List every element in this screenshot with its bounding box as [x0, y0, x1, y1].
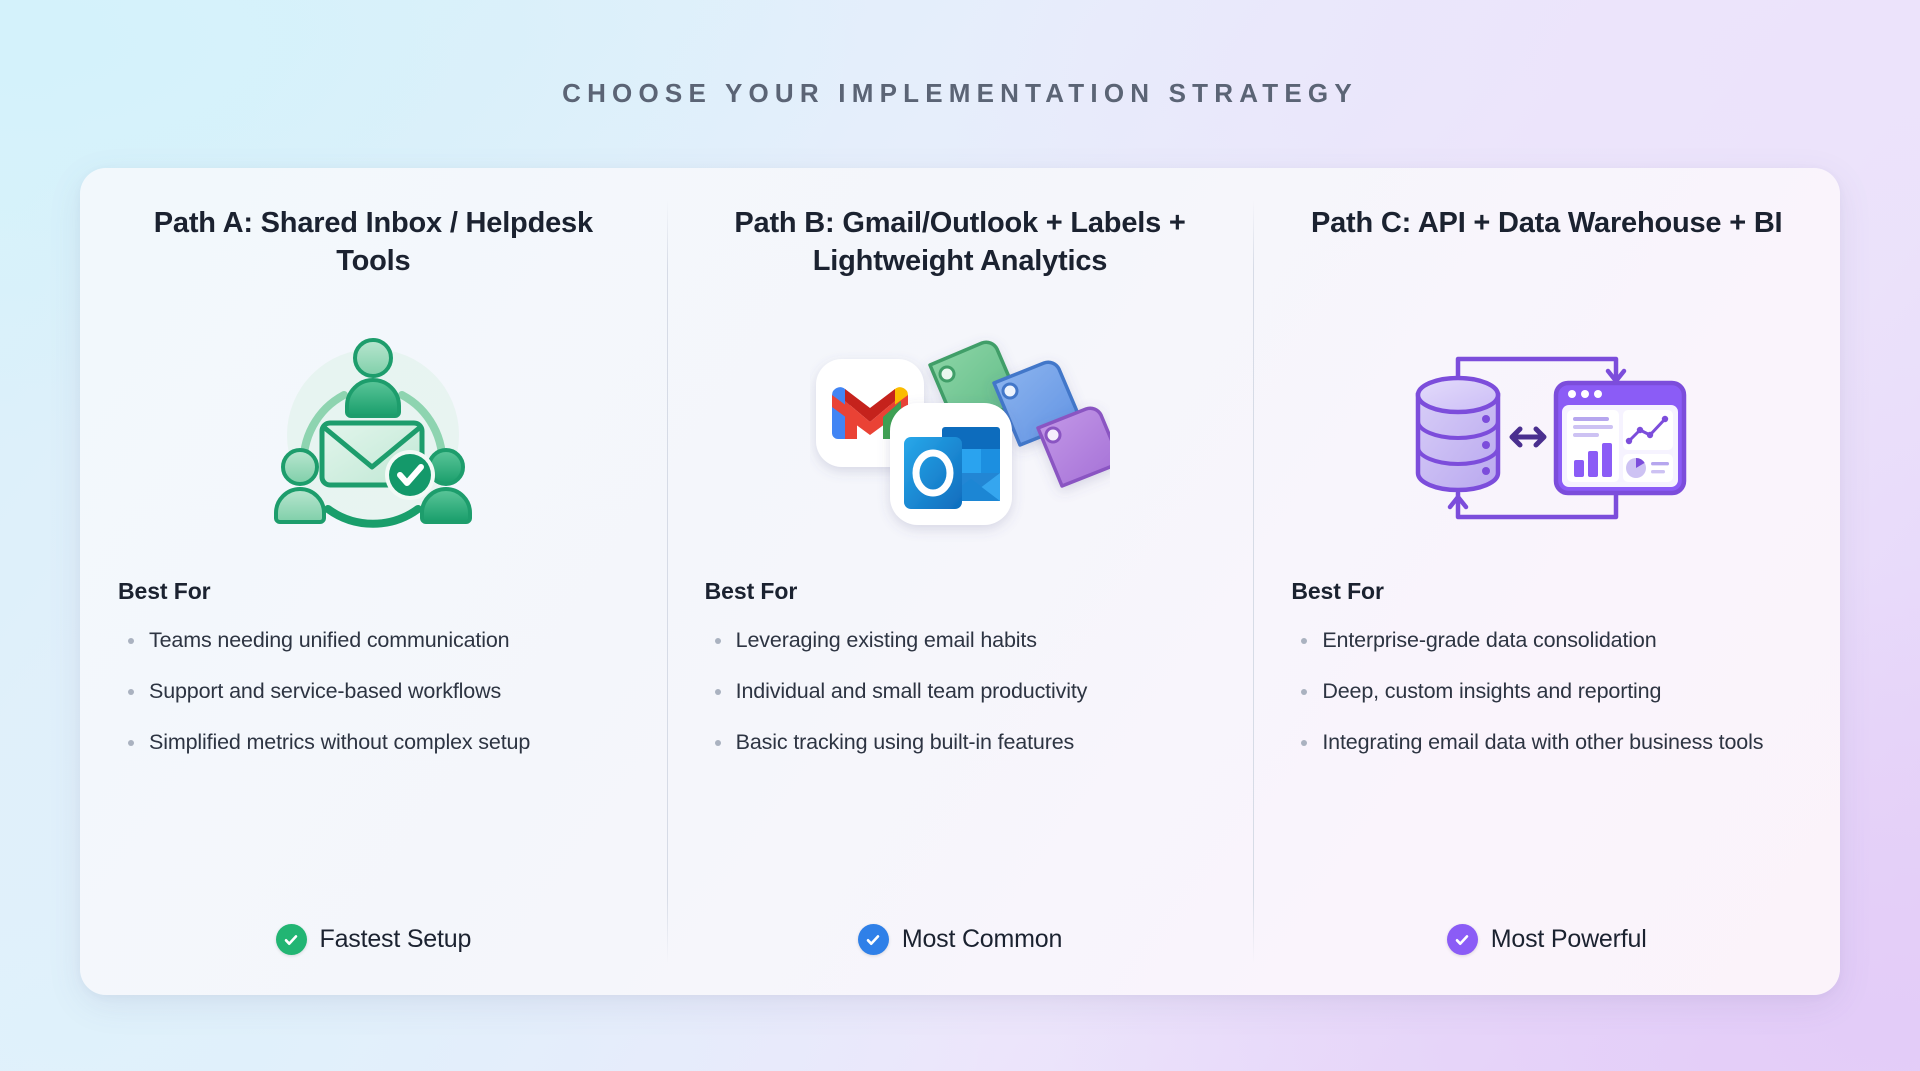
best-for-heading: Best For [705, 578, 1216, 605]
best-for-list: Teams needing unified communication Supp… [118, 627, 629, 780]
list-item: Simplified metrics without complex setup [118, 729, 629, 757]
best-for-heading: Best For [1291, 578, 1802, 605]
status-badge: Most Common [705, 924, 1216, 955]
list-item: Leveraging existing email habits [705, 627, 1216, 655]
status-badge-label: Most Powerful [1491, 925, 1647, 954]
best-for-heading: Best For [118, 578, 629, 605]
shared-inbox-team-illustration [118, 310, 629, 556]
list-item: Integrating email data with other busine… [1291, 729, 1802, 757]
strategy-column-path-b: Path B: Gmail/Outlook + Labels + Lightwe… [667, 168, 1254, 995]
list-item: Basic tracking using built-in features [705, 729, 1216, 757]
list-item: Deep, custom insights and reporting [1291, 678, 1802, 706]
list-item: Enterprise-grade data consolidation [1291, 627, 1802, 655]
gmail-outlook-labels-illustration [705, 310, 1216, 556]
status-badge: Fastest Setup [118, 924, 629, 955]
strategy-column-path-c: Path C: API + Data Warehouse + BI [1253, 168, 1840, 995]
check-circle-icon [858, 924, 889, 955]
column-title: Path B: Gmail/Outlook + Labels + Lightwe… [705, 204, 1216, 300]
database-bi-dashboard-illustration [1291, 310, 1802, 556]
status-badge-label: Fastest Setup [320, 925, 472, 954]
list-item: Support and service-based workflows [118, 678, 629, 706]
best-for-list: Enterprise-grade data consolidation Deep… [1291, 627, 1802, 780]
page-title: CHOOSE YOUR IMPLEMENTATION STRATEGY [0, 78, 1920, 109]
list-item: Individual and small team productivity [705, 678, 1216, 706]
status-badge: Most Powerful [1291, 924, 1802, 955]
check-circle-icon [1447, 924, 1478, 955]
strategy-comparison-card: Path A: Shared Inbox / Helpdesk Tools [80, 168, 1840, 995]
strategy-column-path-a: Path A: Shared Inbox / Helpdesk Tools [80, 168, 667, 995]
list-item: Teams needing unified communication [118, 627, 629, 655]
column-title: Path C: API + Data Warehouse + BI [1291, 204, 1802, 300]
check-circle-icon [276, 924, 307, 955]
best-for-list: Leveraging existing email habits Individ… [705, 627, 1216, 780]
status-badge-label: Most Common [902, 925, 1062, 954]
column-title: Path A: Shared Inbox / Helpdesk Tools [118, 204, 629, 300]
